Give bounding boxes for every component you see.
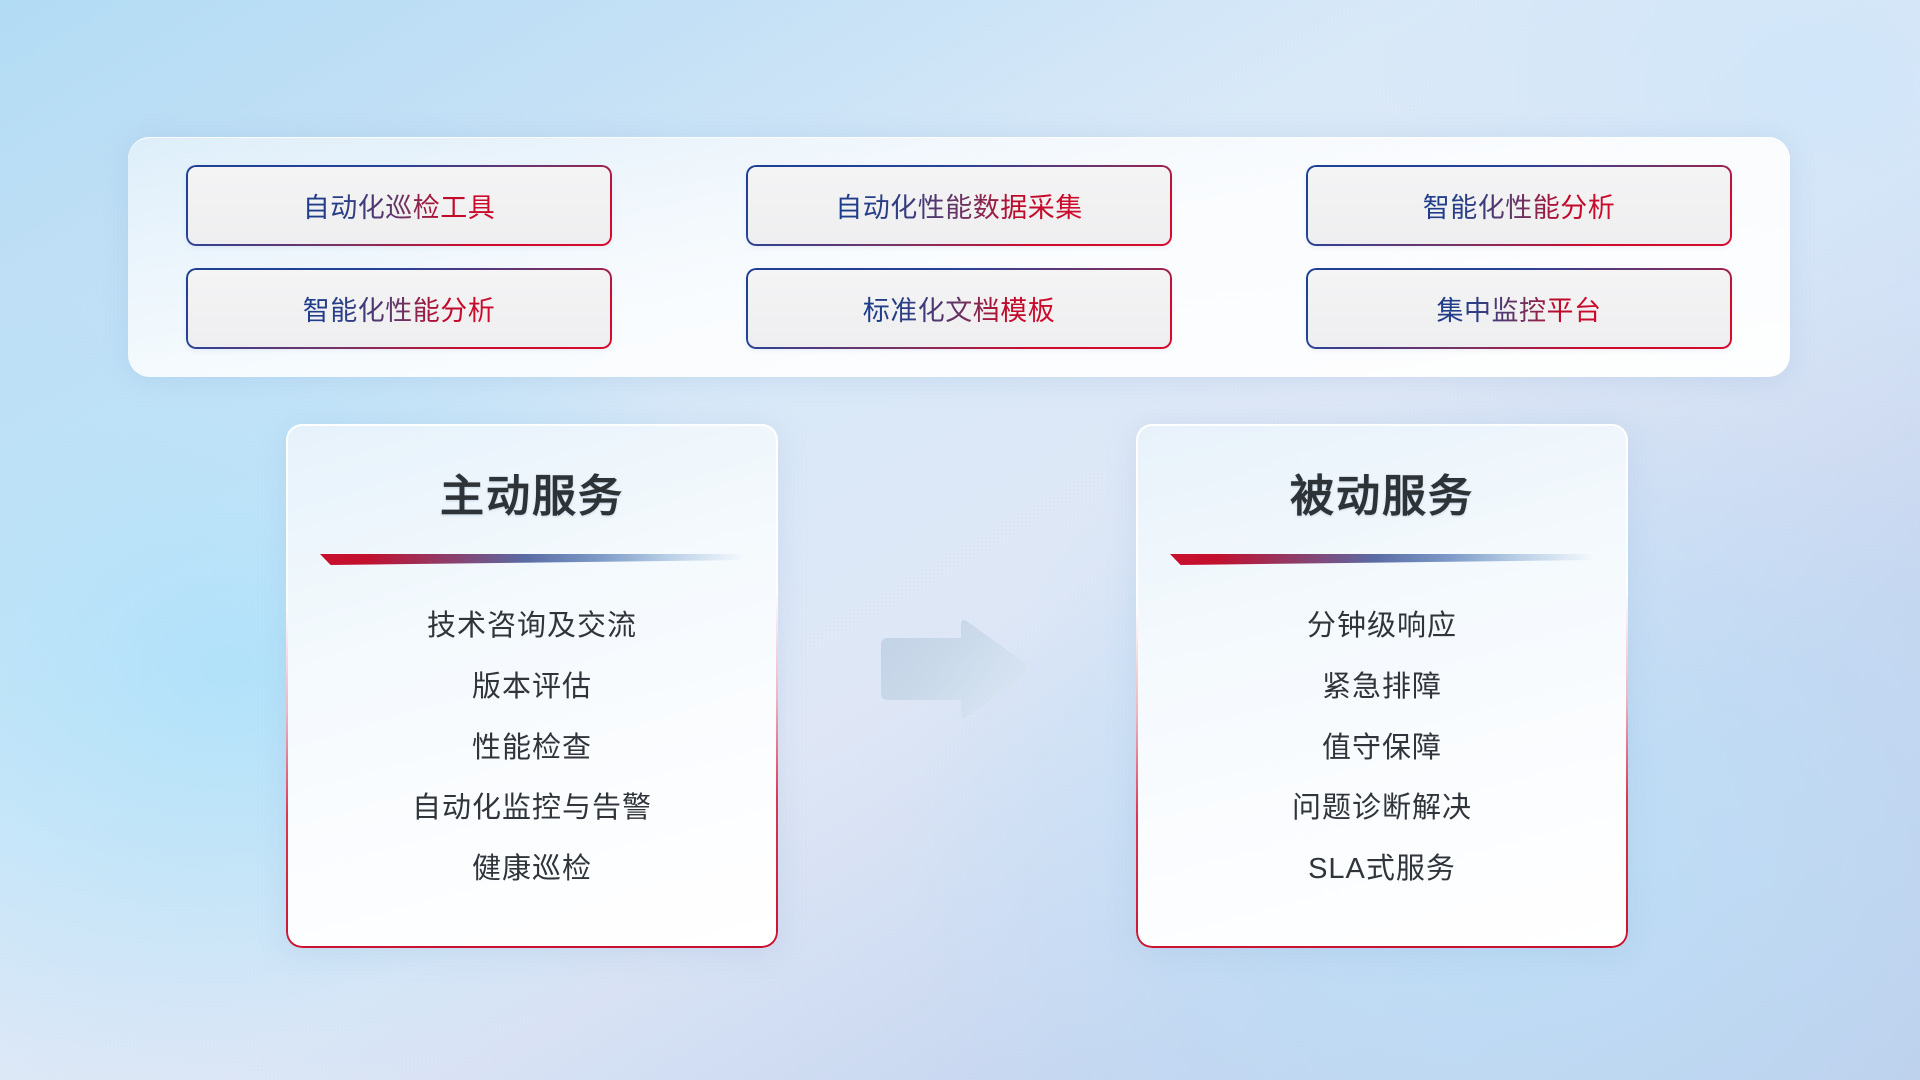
capability-panel: 自动化巡检工具 自动化性能数据采集 智能化性能分析 智能化性能分析 标准化文档模… [128,137,1790,377]
list-item: 性能检查 [472,731,592,766]
list-item: 版本评估 [472,670,592,705]
pill-intelligent-performance-analysis[interactable]: 智能化性能分析 [1306,165,1732,246]
service-list-proactive: 技术咨询及交流 版本评估 性能检查 自动化监控与告警 健康巡检 [286,609,778,887]
card-title: 被动服务 [1136,460,1628,524]
service-card-reactive[interactable]: 被动服务 分钟级响应 紧急排障 值守保障 问题诊断解决 SLA式服务 [1136,424,1628,948]
pill-automation-inspection-tool[interactable]: 自动化巡检工具 [186,165,612,246]
pill-centralized-monitoring-platform[interactable]: 集中监控平台 [1306,268,1732,349]
title-divider [320,554,744,565]
right-arrow-icon [873,617,1031,722]
divider-gradient-bar [1170,554,1594,565]
pill-automation-performance-collection[interactable]: 自动化性能数据采集 [746,165,1172,246]
service-card-proactive[interactable]: 主动服务 技术咨询及交流 版本评估 性能检查 自动化监控与告警 健康巡检 [286,424,778,948]
list-item: 自动化监控与告警 [412,791,652,826]
pill-label: 集中监控平台 [1437,289,1602,328]
pill-label: 智能化性能分析 [1423,186,1616,225]
list-item: 问题诊断解决 [1292,791,1472,826]
pill-standard-doc-template[interactable]: 标准化文档模板 [746,268,1172,349]
pill-label: 自动化巡检工具 [303,186,496,225]
pill-label: 标准化文档模板 [863,289,1056,328]
list-item: SLA式服务 [1308,852,1456,887]
slide-canvas: 自动化巡检工具 自动化性能数据采集 智能化性能分析 智能化性能分析 标准化文档模… [0,0,1920,1080]
list-item: 技术咨询及交流 [427,609,637,644]
list-item: 健康巡检 [472,852,592,887]
list-item: 紧急排障 [1322,670,1442,705]
card-title: 主动服务 [286,460,778,524]
pill-label: 自动化性能数据采集 [835,186,1083,225]
list-item: 值守保障 [1322,731,1442,766]
pill-intelligent-performance-analysis-2[interactable]: 智能化性能分析 [186,268,612,349]
pill-label: 智能化性能分析 [303,289,496,328]
divider-gradient-bar [320,554,744,565]
list-item: 分钟级响应 [1307,609,1457,644]
service-list-reactive: 分钟级响应 紧急排障 值守保障 问题诊断解决 SLA式服务 [1136,609,1628,887]
title-divider [1170,554,1594,565]
capability-pill-grid: 自动化巡检工具 自动化性能数据采集 智能化性能分析 智能化性能分析 标准化文档模… [186,165,1732,349]
